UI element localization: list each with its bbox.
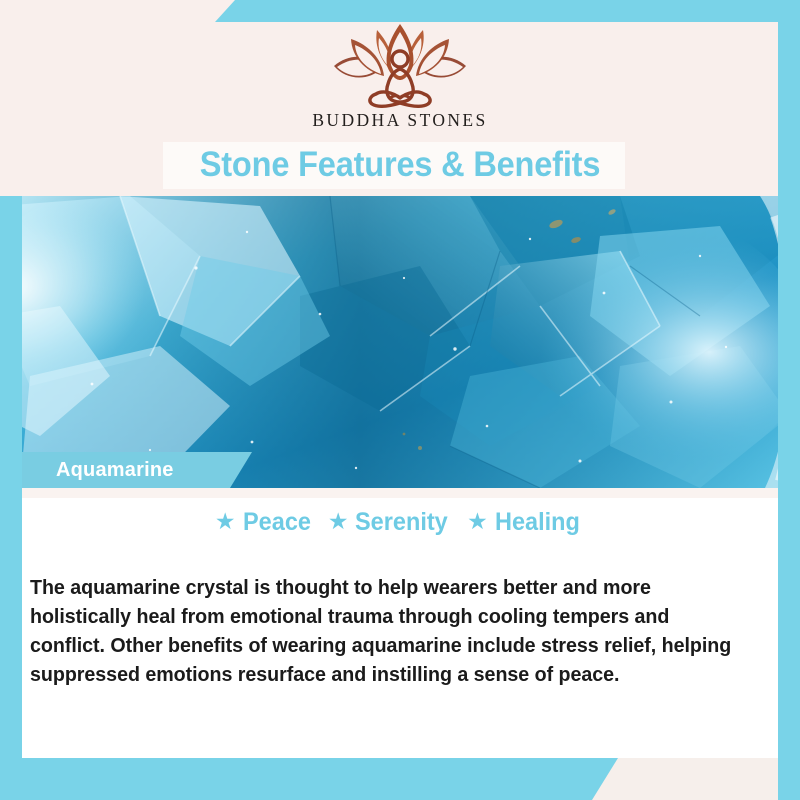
poster-canvas: BUDDHA STONES Stone Features & Benefits (0, 0, 800, 800)
stone-name-ribbon: Aquamarine (22, 452, 252, 488)
keyword-list: ★ Peace ★ Serenity ★ Healing (22, 508, 778, 537)
crystal-photo (0, 196, 800, 488)
frame-bottom-accent (0, 758, 618, 800)
lotus-meditation-figure-icon (320, 22, 480, 108)
star-icon: ★ (328, 510, 349, 533)
keyword-label: Serenity (355, 508, 448, 537)
frame-left-accent (0, 196, 22, 800)
star-icon: ★ (215, 510, 236, 533)
content-section: ★ Peace ★ Serenity ★ Healing The aquamar… (22, 488, 778, 758)
brand-name: BUDDHA STONES (312, 110, 487, 131)
frame-top-accent (215, 0, 800, 22)
description-paragraph: The aquamarine crystal is thought to hel… (30, 573, 737, 689)
header-section: BUDDHA STONES Stone Features & Benefits (0, 0, 800, 196)
keyword-item-peace: ★ Peace (215, 508, 315, 537)
content-divider (22, 488, 778, 498)
crystal-photo-art (0, 196, 800, 488)
stone-name-label: Aquamarine (56, 459, 174, 482)
brand-logo: BUDDHA STONES (0, 22, 800, 142)
keyword-label: Healing (495, 508, 580, 537)
keyword-item-serenity: ★ Serenity (328, 508, 454, 537)
keyword-item-healing: ★ Healing (467, 508, 585, 537)
star-icon: ★ (467, 510, 488, 533)
keyword-label: Peace (243, 508, 311, 537)
frame-right-accent (778, 0, 800, 800)
page-title: Stone Features & Benefits (28, 141, 772, 188)
